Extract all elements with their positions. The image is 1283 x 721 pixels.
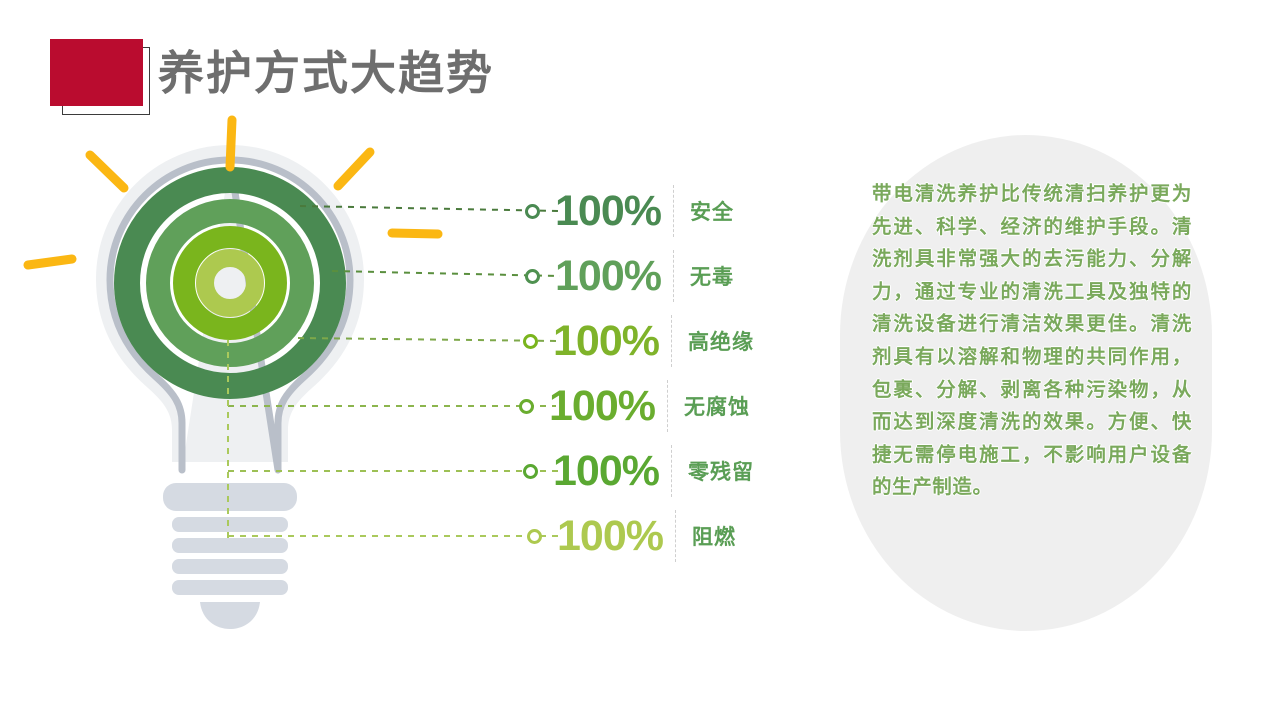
stat-divider (671, 315, 672, 367)
stat-value: 100% (553, 319, 659, 363)
stat-value: 100% (555, 189, 661, 233)
stat-value: 100% (555, 254, 661, 298)
stat-label: 无腐蚀 (684, 391, 750, 421)
stat-divider (675, 510, 676, 562)
stat-divider (671, 445, 672, 497)
stat-label: 阻燃 (692, 521, 736, 551)
stat-row[interactable]: 100% 无毒 (525, 244, 734, 308)
stat-divider (673, 250, 674, 302)
description-text: 带电清洗养护比传统清扫养护更为先进、科学、经济的维护手段。清洗剂具非常强大的去污… (872, 178, 1192, 504)
stat-row[interactable]: 100% 零残留 (523, 439, 754, 503)
stat-marker-dot (525, 204, 540, 219)
stat-value: 100% (549, 384, 655, 428)
stat-marker-dot (523, 334, 538, 349)
stat-label: 高绝缘 (688, 326, 754, 356)
stats-list: 100% 安全 100% 无毒 100% 高绝缘 100% 无腐蚀 100% (0, 0, 860, 640)
stat-marker-dot (525, 269, 540, 284)
slide-root: 养护方式大趋势 带电清洗养护比传统清扫养护更为先进、科学、经济的维护手段。清洗剂… (0, 0, 1283, 721)
stat-row[interactable]: 100% 高绝缘 (523, 309, 754, 373)
stat-marker-dot (527, 529, 542, 544)
stat-divider (667, 380, 668, 432)
stat-label: 安全 (690, 196, 734, 226)
stat-marker-dot (519, 399, 534, 414)
stat-value: 100% (557, 514, 663, 558)
stat-marker-dot (523, 464, 538, 479)
stat-row[interactable]: 100% 无腐蚀 (519, 374, 750, 438)
stat-value: 100% (553, 449, 659, 493)
stat-label: 无毒 (690, 261, 734, 291)
stat-label: 零残留 (688, 456, 754, 486)
stat-row[interactable]: 100% 安全 (525, 179, 734, 243)
stat-row[interactable]: 100% 阻燃 (527, 504, 736, 568)
stat-divider (673, 185, 674, 237)
